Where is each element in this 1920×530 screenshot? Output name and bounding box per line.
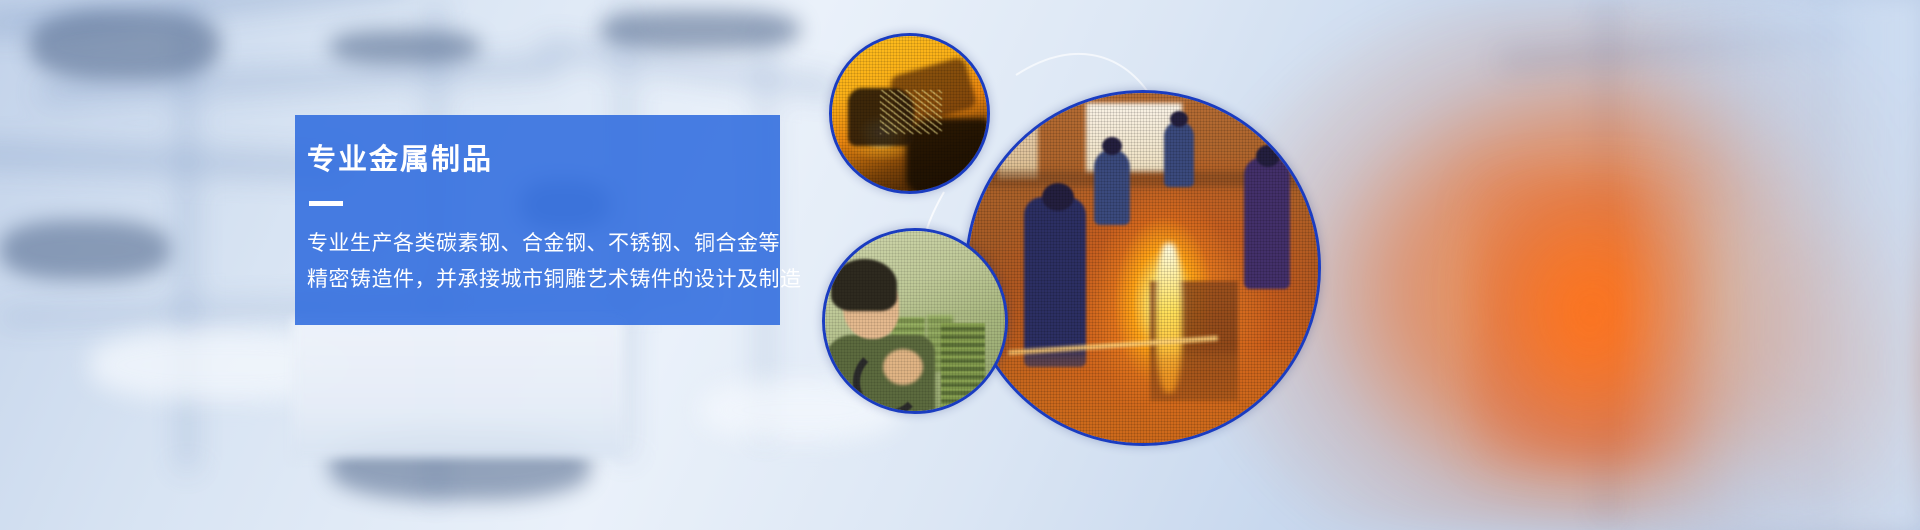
banner-description-line-1: 专业生产各类碳素钢、合金钢、不锈钢、铜合金等 (307, 226, 947, 262)
hero-banner: 专业金属制品 专业生产各类碳素钢、合金钢、不锈钢、铜合金等 精密铸造件，并承接城… (0, 0, 1920, 530)
banner-title: 专业金属制品 (307, 145, 780, 177)
welding-photo-grain (832, 36, 987, 191)
welding-sparks-photo (829, 33, 990, 194)
title-divider (309, 201, 343, 206)
background-panel-sheet (292, 318, 624, 458)
foundry-photo-surface (968, 93, 1318, 443)
background-right-cool-fade (1620, 0, 1920, 530)
text-panel-inner: 专业金属制品 (295, 115, 780, 206)
foundry-photo-grain (968, 93, 1318, 443)
banner-description-line-2: 精密铸造件，并承接城市铜雕艺术铸件的设计及制造 (307, 262, 947, 298)
welding-photo-surface (832, 36, 987, 191)
banner-description: 专业生产各类碳素钢、合金钢、不锈钢、铜合金等 精密铸造件，并承接城市铜雕艺术铸件… (307, 226, 947, 298)
foundry-molten-pour-photo (965, 90, 1321, 446)
